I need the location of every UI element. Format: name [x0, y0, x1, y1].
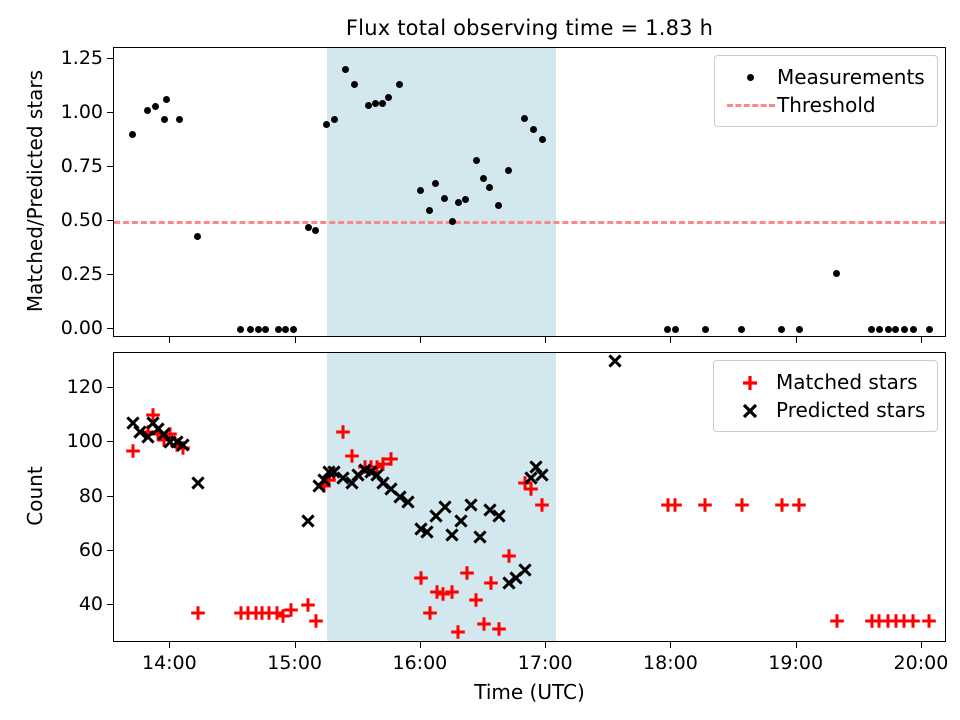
legend-label-measurements: Measurements: [777, 65, 925, 89]
data-point-measurement: [868, 326, 875, 333]
data-point-measurement: [672, 326, 679, 333]
x-axis-tick-mark: [796, 642, 797, 648]
x-axis-tick-mark: [295, 337, 296, 343]
x-axis-tick-label: 17:00: [518, 652, 573, 674]
legend-label-matched-stars: Matched stars: [776, 370, 918, 394]
y-axis-tick-mark: [107, 274, 113, 275]
data-point-measurement: [833, 270, 840, 277]
data-point-measurement: [144, 107, 151, 114]
dashed-line-marker-icon: [725, 93, 777, 117]
y-axis-tick-mark: [107, 441, 113, 442]
data-point-measurement: [876, 326, 883, 333]
y-axis-tick-mark: [107, 328, 113, 329]
x-axis-tick-mark: [295, 642, 296, 648]
data-point-measurement: [331, 116, 338, 123]
data-point-measurement: [778, 326, 785, 333]
data-point-measurement: [129, 131, 136, 138]
data-point-measurement: [505, 167, 512, 174]
y-axis-tick-label: 0.25: [0, 263, 103, 285]
x-axis-tick-mark: [420, 337, 421, 343]
x-axis-tick-mark: [796, 337, 797, 343]
data-point-measurement: [176, 116, 183, 123]
data-point-measurement: [892, 326, 899, 333]
legend-item-matched-stars[interactable]: Matched stars: [724, 368, 925, 396]
data-point-measurement: [163, 96, 170, 103]
data-point-measurement: [530, 126, 537, 133]
x-axis-label: Time (UTC): [113, 680, 946, 704]
data-point-measurement: [161, 116, 168, 123]
data-point-measurement: [738, 326, 745, 333]
data-point-measurement: [152, 103, 159, 110]
x-axis-tick-mark: [670, 337, 671, 343]
x-axis-tick-label: 15:00: [267, 652, 322, 674]
x-axis-tick-mark: [169, 642, 170, 648]
x-axis-tick-mark: [921, 642, 922, 648]
y-axis-tick-label: 40: [0, 593, 103, 615]
x-axis-tick-label: 20:00: [894, 652, 949, 674]
data-point-measurement: [885, 326, 892, 333]
y-axis-tick-label: 80: [0, 485, 103, 507]
x-axis-tick-mark: [545, 337, 546, 343]
data-point-measurement: [910, 326, 917, 333]
matplotlib-figure: Flux total observing time = 1.83 h 0.000…: [0, 0, 960, 720]
data-point-measurement: [305, 224, 312, 231]
y-axis-tick-label: 120: [0, 376, 103, 398]
legend-item-predicted-stars[interactable]: Predicted stars: [724, 396, 925, 424]
data-point-measurement: [282, 326, 289, 333]
data-point-measurement: [275, 326, 282, 333]
data-point-measurement: [426, 207, 433, 214]
x-axis-tick-mark: [545, 642, 546, 648]
plus-marker-icon: [724, 370, 776, 394]
dot-marker-icon: [725, 65, 777, 89]
y-axis-tick-label: 60: [0, 539, 103, 561]
data-point-measurement: [379, 100, 386, 107]
x-axis-tick-mark: [420, 642, 421, 648]
y-axis-tick-mark: [107, 550, 113, 551]
legend-label-threshold: Threshold: [777, 93, 876, 117]
legend-label-predicted-stars: Predicted stars: [776, 398, 925, 422]
shaded-time-region: [327, 48, 556, 336]
cross-marker-icon: [724, 398, 776, 422]
legend-item-threshold[interactable]: Threshold: [725, 91, 925, 119]
y-axis-tick-mark: [107, 166, 113, 167]
data-point-measurement: [449, 218, 456, 225]
x-axis-tick-label: 14:00: [142, 652, 197, 674]
y-axis-tick-mark: [107, 387, 113, 388]
y-axis-tick-label: 100: [0, 430, 103, 452]
x-axis-tick-label: 19:00: [768, 652, 823, 674]
data-point-measurement: [237, 326, 244, 333]
x-axis-tick-mark: [921, 337, 922, 343]
bottom-panel-y-axis-label: Count: [23, 351, 47, 641]
x-axis-tick-label: 18:00: [643, 652, 698, 674]
data-point-measurement: [702, 326, 709, 333]
y-axis-tick-label: 0.75: [0, 155, 103, 177]
x-axis-tick-mark: [670, 642, 671, 648]
data-point-measurement: [194, 233, 201, 240]
data-point-measurement: [664, 326, 671, 333]
data-point-measurement: [312, 227, 319, 234]
threshold-line: [114, 221, 945, 224]
x-axis-tick-label: 16:00: [393, 652, 448, 674]
y-axis-tick-label: 1.00: [0, 101, 103, 123]
x-axis-tick-mark: [169, 337, 170, 343]
legend-item-measurements[interactable]: Measurements: [725, 63, 925, 91]
y-axis-tick-label: 0.00: [0, 317, 103, 339]
data-point-measurement: [796, 326, 803, 333]
top-panel-y-axis-label: Matched/Predicted stars: [23, 46, 47, 336]
y-axis-tick-mark: [107, 496, 113, 497]
y-axis-tick-label: 1.25: [0, 47, 103, 69]
data-point-measurement: [901, 326, 908, 333]
top-panel-legend: Measurements Threshold: [714, 55, 938, 127]
y-axis-tick-label: 0.50: [0, 209, 103, 231]
y-axis-tick-mark: [107, 112, 113, 113]
data-point-measurement: [262, 326, 269, 333]
data-point-measurement: [290, 326, 297, 333]
y-axis-tick-mark: [107, 220, 113, 221]
bottom-panel-legend: Matched stars Predicted stars: [713, 360, 938, 432]
data-point-measurement: [926, 326, 933, 333]
y-axis-tick-mark: [107, 604, 113, 605]
data-point-measurement: [247, 326, 254, 333]
data-point-measurement: [365, 102, 372, 109]
y-axis-tick-mark: [107, 58, 113, 59]
data-point-measurement: [473, 157, 480, 164]
data-point-measurement: [255, 326, 262, 333]
page-title: Flux total observing time = 1.83 h: [113, 16, 946, 40]
